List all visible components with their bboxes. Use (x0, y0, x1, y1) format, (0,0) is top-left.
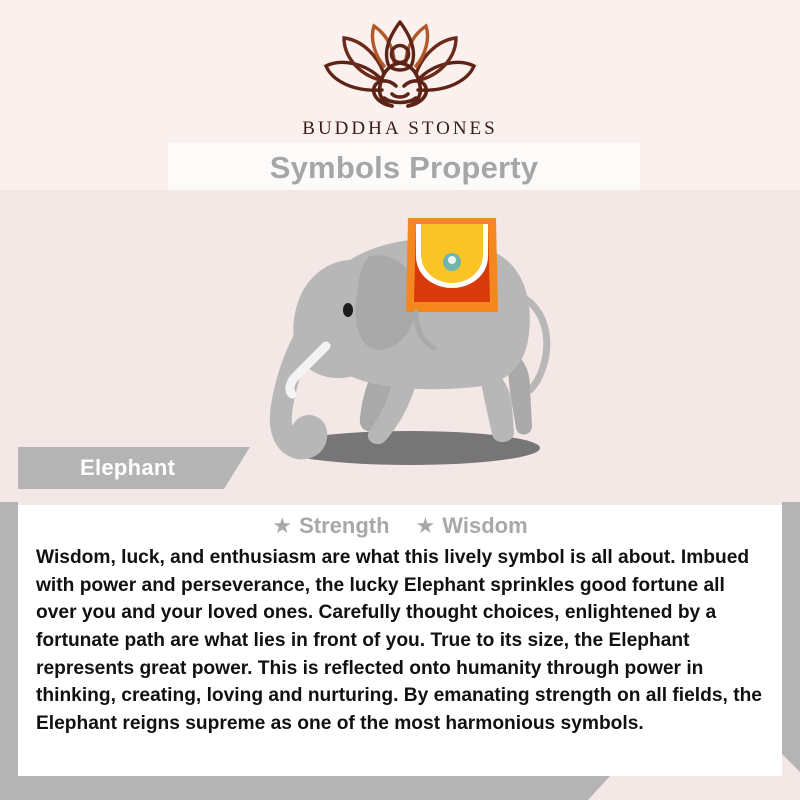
star-icon: ★ (416, 515, 436, 537)
attribute-strength: ★ Strength (272, 513, 389, 539)
brand-name: BUDDHA STONES (0, 118, 800, 140)
frame-bar-bottom (0, 776, 610, 800)
lotus-meditation-icon (322, 18, 478, 114)
symbol-name-label: Elephant (80, 455, 175, 481)
symbol-property-card: BUDDHA STONES Symbols Property (0, 0, 800, 800)
symbol-attributes: ★ Strength ★ Wisdom (18, 505, 782, 539)
attribute-wisdom: ★ Wisdom (416, 513, 528, 539)
symbol-content-panel: ★ Strength ★ Wisdom Wisdom, luck, and en… (18, 505, 782, 776)
symbol-description: Wisdom, luck, and enthusiasm are what th… (36, 544, 764, 737)
card-header: BUDDHA STONES Symbols Property (0, 0, 800, 190)
title-band: Symbols Property (168, 143, 640, 193)
star-icon: ★ (272, 515, 292, 537)
brand-logo-block: BUDDHA STONES (0, 18, 800, 140)
attribute-label: Wisdom (442, 513, 527, 539)
elephant-saddle (406, 218, 498, 312)
attribute-label: Strength (299, 513, 389, 539)
page-title: Symbols Property (270, 150, 539, 186)
symbol-name-banner: Elephant (18, 447, 250, 489)
saddle-gem-highlight (448, 256, 456, 264)
elephant-eye (343, 303, 353, 317)
walking-elephant-illustration (230, 200, 570, 470)
